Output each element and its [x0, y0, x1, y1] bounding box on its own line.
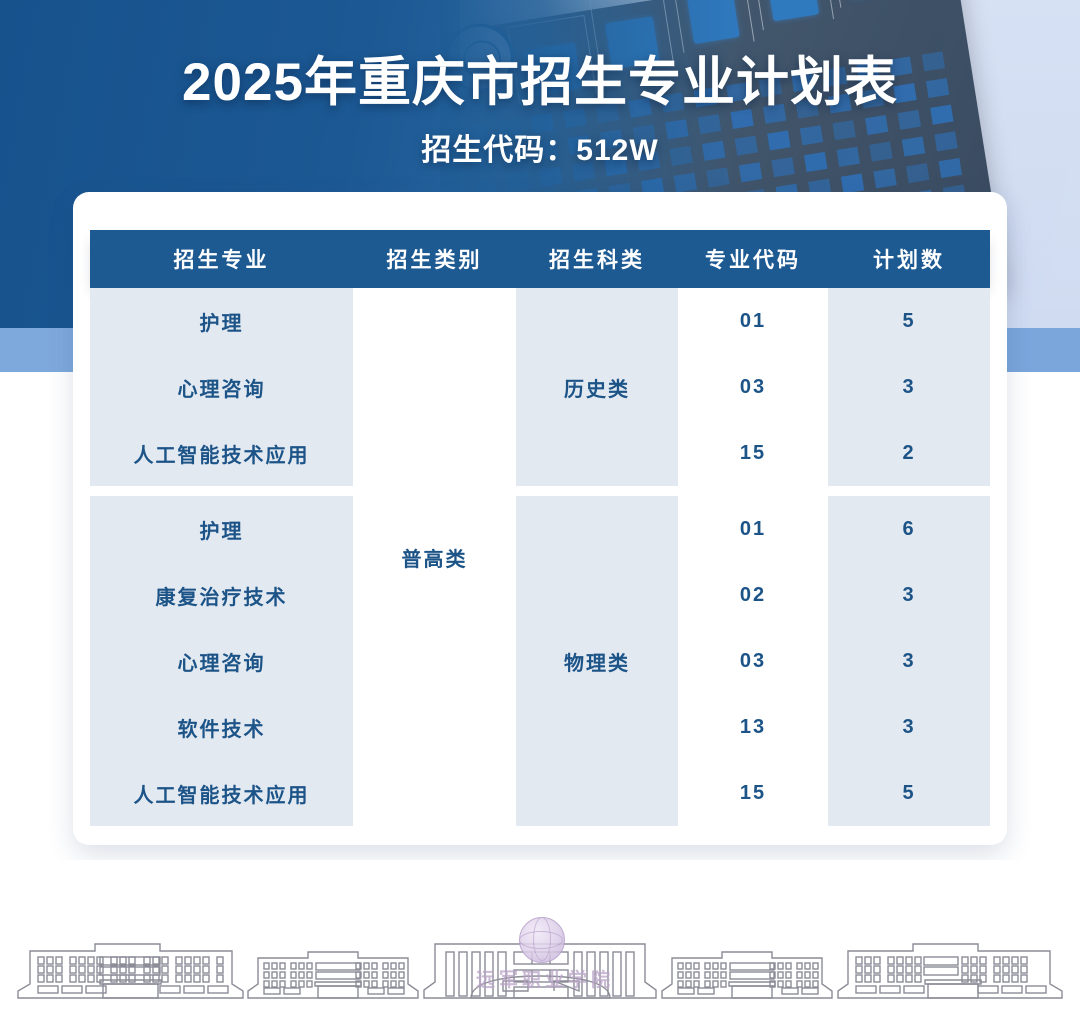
- table-body: 护理015心理咨询033人工智能技术应用152护理016康复治疗技术023心理咨…: [90, 288, 990, 826]
- plan-table: 招生专业 招生类别 招生科类 专业代码 计划数 护理015心理咨询033人工智能…: [90, 230, 990, 826]
- group-separator: [90, 486, 990, 496]
- cell-code: 01: [678, 288, 828, 354]
- cell-major: 心理咨询: [90, 354, 353, 420]
- page-title: 2025年重庆市招生专业计划表: [0, 40, 1080, 116]
- cell-code: 03: [678, 628, 828, 694]
- cell-code: 13: [678, 694, 828, 760]
- cell-plan: 6: [828, 496, 990, 562]
- cell-category-merged: 普高类: [353, 288, 516, 826]
- table-header-row: 招生专业 招生类别 招生科类 专业代码 计划数: [90, 230, 990, 288]
- cell-code: 15: [678, 760, 828, 826]
- cell-plan: 5: [828, 760, 990, 826]
- watermark-text: 远军职业学院: [465, 965, 625, 999]
- cell-subject-merged: 历史类: [516, 288, 678, 486]
- cell-major: 康复治疗技术: [90, 562, 353, 628]
- cell-plan: 3: [828, 562, 990, 628]
- cell-code: 15: [678, 420, 828, 486]
- cell-major: 人工智能技术应用: [90, 420, 353, 486]
- cell-plan: 3: [828, 694, 990, 760]
- page-subtitle: 招生代码：512W: [0, 125, 1080, 169]
- cell-code: 02: [678, 562, 828, 628]
- cell-plan: 3: [828, 354, 990, 420]
- globe-icon: [519, 917, 565, 963]
- cell-code: 03: [678, 354, 828, 420]
- cell-subject-merged: 物理类: [516, 496, 678, 826]
- col-header-major: 招生专业: [90, 230, 353, 288]
- cell-major: 心理咨询: [90, 628, 353, 694]
- col-header-code: 专业代码: [678, 230, 828, 288]
- col-header-category: 招生类别: [353, 230, 516, 288]
- cell-plan: 2: [828, 420, 990, 486]
- col-header-subject: 招生科类: [516, 230, 678, 288]
- cell-plan: 5: [828, 288, 990, 354]
- cell-major: 护理: [90, 288, 353, 354]
- cell-major: 软件技术: [90, 694, 353, 760]
- cell-major: 人工智能技术应用: [90, 760, 353, 826]
- cell-code: 01: [678, 496, 828, 562]
- col-header-plan: 计划数: [828, 230, 990, 288]
- footer-skyline: 远军职业学院: [0, 860, 1080, 1005]
- cell-major: 护理: [90, 496, 353, 562]
- cell-plan: 3: [828, 628, 990, 694]
